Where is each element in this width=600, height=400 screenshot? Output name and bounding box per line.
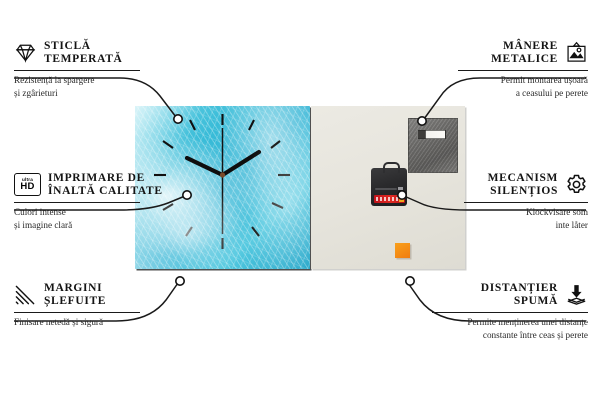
divider <box>458 70 588 72</box>
diamond-icon <box>14 41 37 64</box>
clock-mechanism <box>371 168 407 206</box>
feature-title-line1: MECANISM <box>488 172 558 185</box>
feature-tempered-glass: STICLĂ TEMPERATĂ Rezistență la spargere … <box>14 40 140 100</box>
infographic-canvas: STICLĂ TEMPERATĂ Rezistență la spargere … <box>0 0 600 400</box>
connector-dot-foam <box>406 277 414 285</box>
down-arrow-stack-icon <box>565 283 588 306</box>
feature-title-line2: SPUMĂ <box>481 295 558 308</box>
feature-description: Klockvisare som inte låter <box>464 206 588 231</box>
foam-spacer-piece <box>395 243 410 258</box>
battery-plus-terminal <box>399 196 404 202</box>
feature-title-line1: IMPRIMARE DE <box>48 172 163 185</box>
feature-title-line1: DISTANȚIER <box>481 282 558 295</box>
feature-title-line2: ÎNALTĂ CALITATE <box>48 185 163 198</box>
divider <box>432 312 588 314</box>
hatch-lines-icon <box>14 283 37 306</box>
feature-title-line2: ȘLEFUITE <box>44 295 106 308</box>
feature-description: Permit montarea ușoară a ceasului pe per… <box>458 74 588 99</box>
feature-description: Rezistență la spargere și zgârieturi <box>14 74 140 99</box>
mechanism-loop <box>383 162 400 173</box>
feature-title-line1: STICLĂ <box>44 40 122 53</box>
divider <box>14 70 140 72</box>
mechanism-detail <box>375 188 397 190</box>
feature-title-line2: METALICE <box>491 53 558 66</box>
feature-title-line1: MÂNERE <box>491 40 558 53</box>
divider <box>14 312 140 314</box>
feature-title-line2: SILENȚIOS <box>488 185 558 198</box>
battery-label <box>376 197 398 201</box>
feature-silent-mechanism: MECANISM SILENȚIOS Klockvisare som inte … <box>464 172 588 232</box>
clock-back-panel <box>311 106 465 269</box>
gear-icon <box>565 173 588 196</box>
feature-title-line1: MARGINI <box>44 282 106 295</box>
feature-description: Culori intense și imagine clară <box>14 206 163 231</box>
feature-polished-edges: MARGINI ȘLEFUITE Finisare netedă și sigu… <box>14 282 140 329</box>
feature-foam-spacer: DISTANȚIER SPUMĂ Permite menținerea unei… <box>432 282 588 342</box>
feature-description: Finisare netedă și sigură <box>14 316 140 329</box>
mechanism-dot <box>398 187 403 190</box>
battery <box>374 195 405 203</box>
divider <box>14 202 140 204</box>
divider <box>464 202 588 204</box>
product-image <box>135 106 465 269</box>
feature-metal-handles: MÂNERE METALICE Permit montarea ușoară a… <box>458 40 588 100</box>
connector-dot-edges <box>176 277 184 285</box>
metal-hanger-plate <box>408 118 458 173</box>
ultra-hd-icon: ultra HD <box>14 173 41 196</box>
feature-description: Permite menținerea unei distanțe constan… <box>432 316 588 341</box>
feature-high-quality-print: ultra HD IMPRIMARE DE ÎNALTĂ CALITATE Cu… <box>14 172 163 232</box>
hanger-slot <box>417 130 446 139</box>
hanging-picture-icon <box>565 41 588 64</box>
feature-title-line2: TEMPERATĂ <box>44 53 122 66</box>
